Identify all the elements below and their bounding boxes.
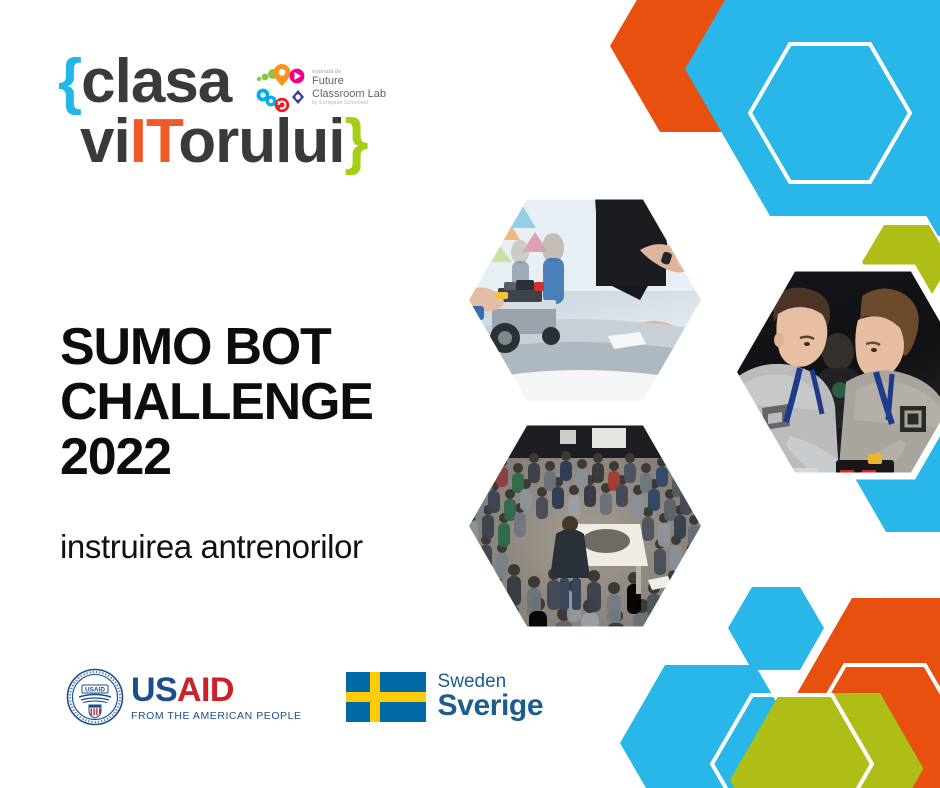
page-title: SUMO BOT CHALLENGE 2022 — [60, 320, 480, 485]
brand-word-it: IT — [130, 107, 179, 176]
future-classroom-lab-mark-icon — [254, 62, 306, 114]
fcl-title-line-2: Classroom Lab — [312, 88, 386, 101]
svg-text:USAID: USAID — [85, 687, 105, 694]
headline-line-1: SUMO BOT — [60, 320, 480, 375]
brand-word-vi: vi — [80, 107, 130, 176]
sweden-logo: Sweden Sverige — [346, 672, 544, 722]
usaid-word: USAID — [131, 673, 302, 707]
fcl-subtitle: by European Schoolnet — [312, 101, 386, 107]
brand-line-2: viITorului} — [80, 112, 368, 172]
photo-robot-table — [464, 196, 705, 406]
usaid-wordmark: USAID FROM THE AMERICAN PEOPLE — [131, 673, 302, 722]
usaid-logo: USAID USAID FROM THE AMERICAN PEOPLE — [66, 668, 302, 726]
usaid-word-aid: AID — [177, 671, 234, 709]
brand-line-1: {clasa — [58, 52, 231, 112]
usaid-word-us: US — [131, 671, 177, 709]
poster-canvas: {clasa viITorului} — [0, 0, 940, 788]
brand-logo: {clasa viITorului} — [58, 52, 458, 192]
usaid-seal-icon: USAID — [66, 668, 124, 726]
photo-two-boys-robot — [733, 268, 940, 540]
page-subtitle: instruirea antrenorilor — [60, 528, 363, 566]
sweden-wordmark: Sweden Sverige — [438, 672, 544, 722]
usaid-tagline: FROM THE AMERICAN PEOPLE — [131, 710, 302, 722]
headline-line-3: 2022 — [60, 430, 480, 485]
fcl-title-line-1: Future — [312, 75, 386, 88]
brand-word-clasa: clasa — [81, 47, 231, 116]
brace-open: { — [58, 47, 81, 116]
future-classroom-lab-logo: inspirată de Future Classroom Lab by Eur… — [254, 62, 386, 114]
swedish-flag-icon — [346, 672, 426, 722]
brace-close: } — [344, 107, 367, 176]
headline-line-2: CHALLENGE — [60, 375, 480, 430]
future-classroom-lab-text: inspirată de Future Classroom Lab by Eur… — [312, 70, 386, 107]
footer-logos: USAID USAID FROM THE AMERICAN PEOPLE — [66, 668, 543, 726]
sweden-name-sv: Sverige — [438, 691, 544, 722]
brand-word-orului: orului — [178, 107, 344, 176]
